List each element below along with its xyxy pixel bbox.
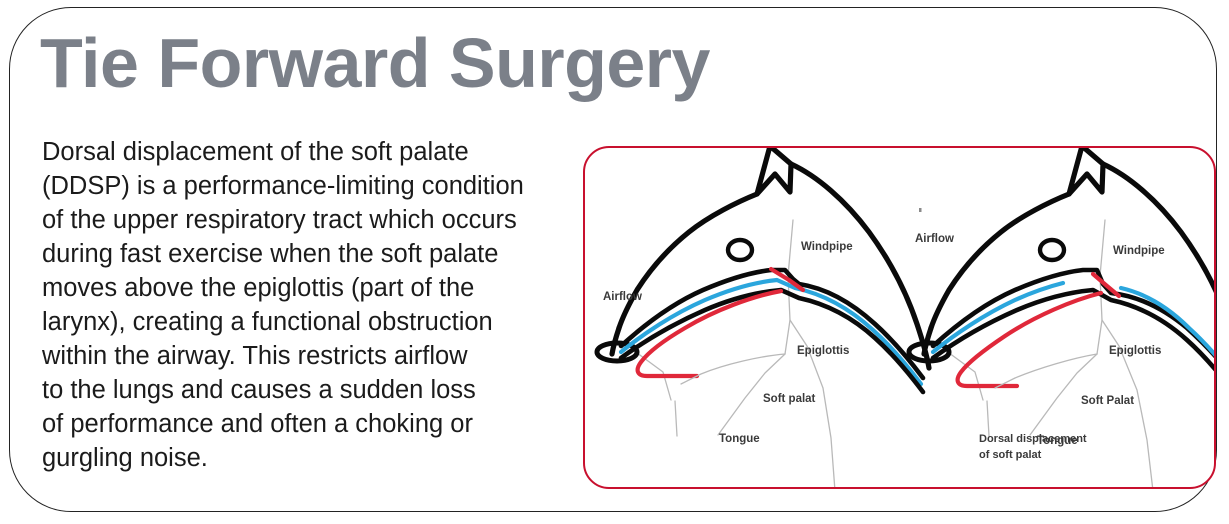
- left-horse-ear: [757, 148, 791, 194]
- paragraph-line: larynx), creating a functional obstructi…: [42, 305, 567, 339]
- right-tongue-contour: [995, 354, 1097, 388]
- paragraph-line: gurgling noise.: [42, 441, 567, 475]
- right-horse-figure: Airflow Windpipe Epiglottis Soft Palat T…: [909, 148, 1216, 489]
- left-label-epiglottis: Epiglottis: [797, 345, 849, 357]
- paragraph-line: (DDSP) is a performance-limiting conditi…: [42, 169, 567, 203]
- anatomy-diagram-svg: Airflow Windpipe Epiglottis Soft palat T…: [585, 148, 1216, 489]
- page-title: Tie Forward Surgery: [40, 28, 710, 99]
- paragraph-line: within the airway. This restricts airflo…: [42, 339, 567, 373]
- paragraph-line: moves above the epiglottis (part of the: [42, 271, 567, 305]
- paragraph-line: of the upper respiratory tract which occ…: [42, 203, 567, 237]
- paragraph-line: during fast exercise when the soft palat…: [42, 237, 567, 271]
- left-horse-face-outline: [791, 164, 929, 368]
- paragraph-line: to the lungs and causes a sudden loss: [42, 373, 567, 407]
- left-windpipe-blue: [621, 280, 921, 384]
- left-horse-figure: Airflow Windpipe Epiglottis Soft palat T…: [597, 148, 929, 489]
- right-horse-eye: [1040, 240, 1064, 260]
- left-horse-eye: [728, 240, 752, 260]
- right-horse-ear: [1069, 148, 1103, 194]
- ddsp-caption-line2: of soft palat: [979, 449, 1042, 461]
- ddsp-caption-line1: Dorsal displacement: [979, 433, 1087, 445]
- left-label-tongue: Tongue: [719, 433, 760, 445]
- left-label-soft-palate: Soft palat: [763, 393, 816, 405]
- right-label-airflow: Airflow: [915, 233, 954, 245]
- right-airway-lower-wall: [933, 290, 1216, 394]
- right-label-epiglottis: Epiglottis: [1109, 345, 1161, 357]
- right-windpipe-blue-distal: [1121, 288, 1216, 382]
- description-paragraph: Dorsal displacement of the soft palate (…: [42, 135, 567, 475]
- paragraph-line: Dorsal displacement of the soft palate: [42, 135, 567, 169]
- right-label-soft-palate: Soft Palat: [1081, 395, 1134, 407]
- right-airflow-tick-mark: [919, 208, 922, 212]
- right-airway-upper-wall: [933, 270, 1216, 380]
- paragraph-line: of performance and often a choking or: [42, 407, 567, 441]
- left-label-airflow: Airflow: [603, 291, 642, 303]
- right-label-windpipe: Windpipe: [1113, 245, 1165, 257]
- slide-canvas: Tie Forward Surgery Dorsal displacement …: [0, 0, 1229, 524]
- left-airway-upper-wall: [621, 270, 923, 378]
- left-label-windpipe: Windpipe: [801, 241, 853, 253]
- anatomy-diagram-panel: Airflow Windpipe Epiglottis Soft palat T…: [583, 146, 1216, 489]
